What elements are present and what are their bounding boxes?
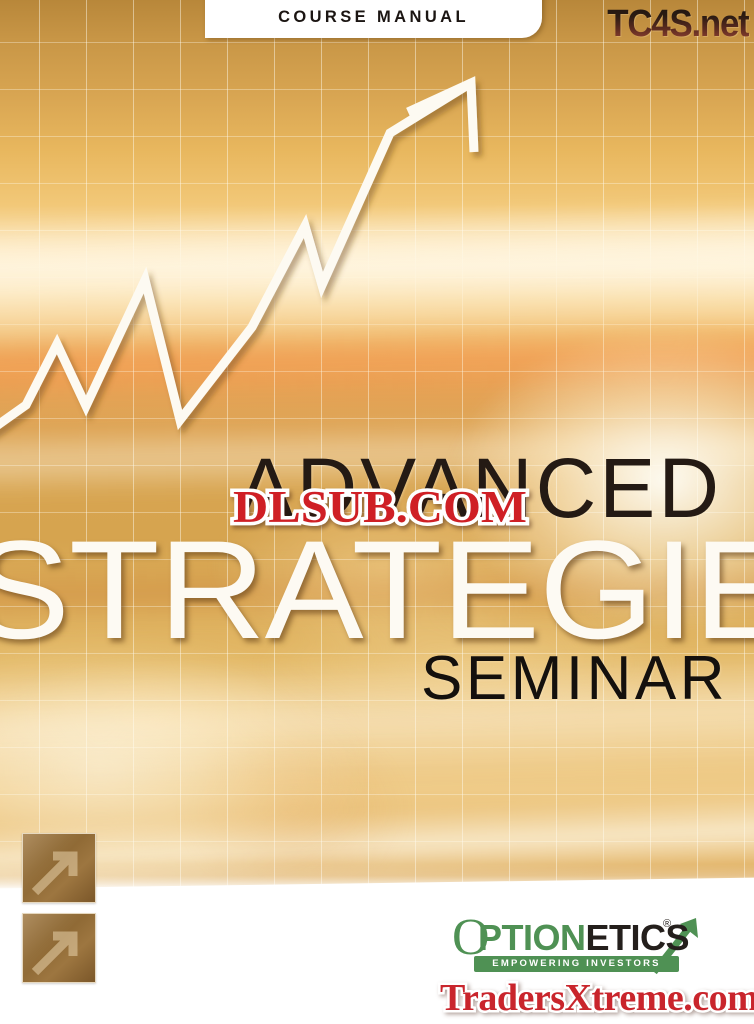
bronze-square-bottom: [22, 913, 96, 983]
book-cover: COURSE MANUAL TC4S.net ADVANCED STRATEGI…: [0, 0, 754, 1024]
logo-wordmark: PTIONETICS: [478, 918, 689, 958]
registered-trademark-icon: ®: [663, 918, 671, 930]
arrow-glyph-icon: [31, 842, 89, 896]
logo-word-etics: ETICS: [586, 917, 690, 958]
title-seminar: SEMINAR: [0, 648, 754, 710]
logo-tagline-bar: EMPOWERING INVESTORS: [474, 956, 679, 972]
dlsub-watermark: DLSUB.COM: [233, 484, 527, 530]
logo-tagline: EMPOWERING INVESTORS: [474, 956, 679, 972]
course-manual-label: COURSE MANUAL: [205, 8, 542, 27]
bronze-square-top: [22, 833, 96, 903]
course-manual-tab: COURSE MANUAL: [205, 0, 542, 38]
optionetics-logo: O PTIONETICS ® EMPOWERING INVESTORS: [452, 916, 697, 978]
title-strategies: STRATEGIES: [0, 520, 754, 660]
tc4s-watermark: TC4S.net: [607, 2, 748, 46]
tradersxtreme-watermark: TradersXtreme.com: [440, 978, 754, 1018]
logo-word-option: PTION: [478, 917, 586, 958]
arrow-glyph-icon-2: [31, 922, 89, 976]
